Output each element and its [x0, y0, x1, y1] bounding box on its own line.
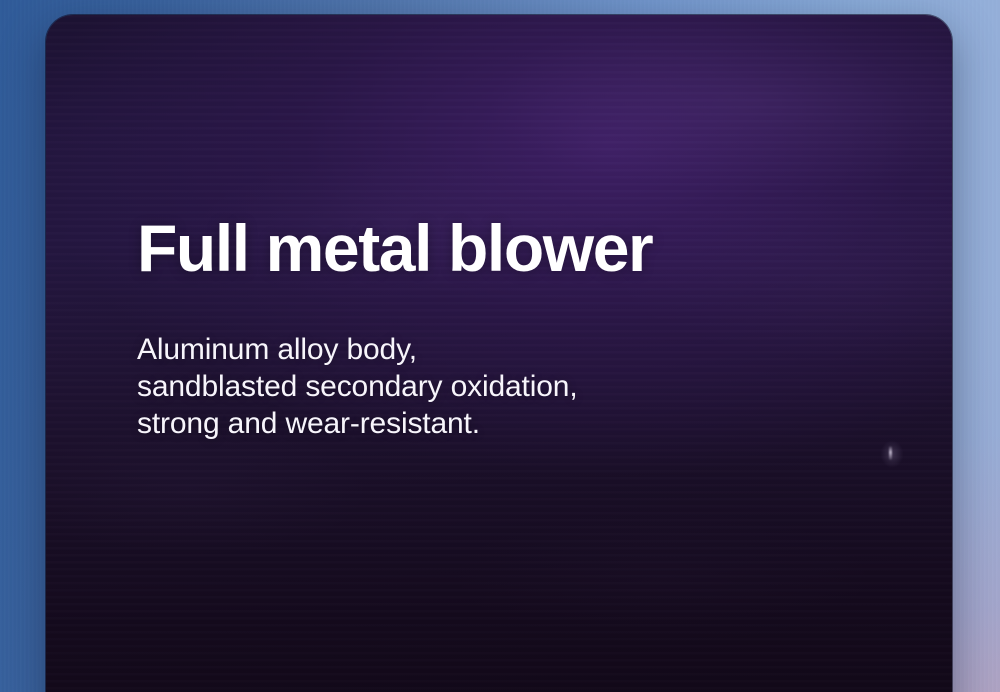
feature-card: Full metal blower Aluminum alloy body, s… [46, 15, 952, 692]
feature-description: Aluminum alloy body, sandblasted seconda… [137, 331, 652, 442]
feature-description-line: sandblasted secondary oxidation, [137, 368, 652, 405]
feature-copy-block: Full metal blower Aluminum alloy body, s… [137, 215, 652, 442]
metal-specular-glint [889, 446, 892, 460]
metal-specular-glint-halo [876, 435, 908, 473]
feature-description-line: Aluminum alloy body, [137, 331, 652, 368]
page-title: Full metal blower [137, 215, 652, 281]
feature-description-line: strong and wear-resistant. [137, 405, 652, 442]
